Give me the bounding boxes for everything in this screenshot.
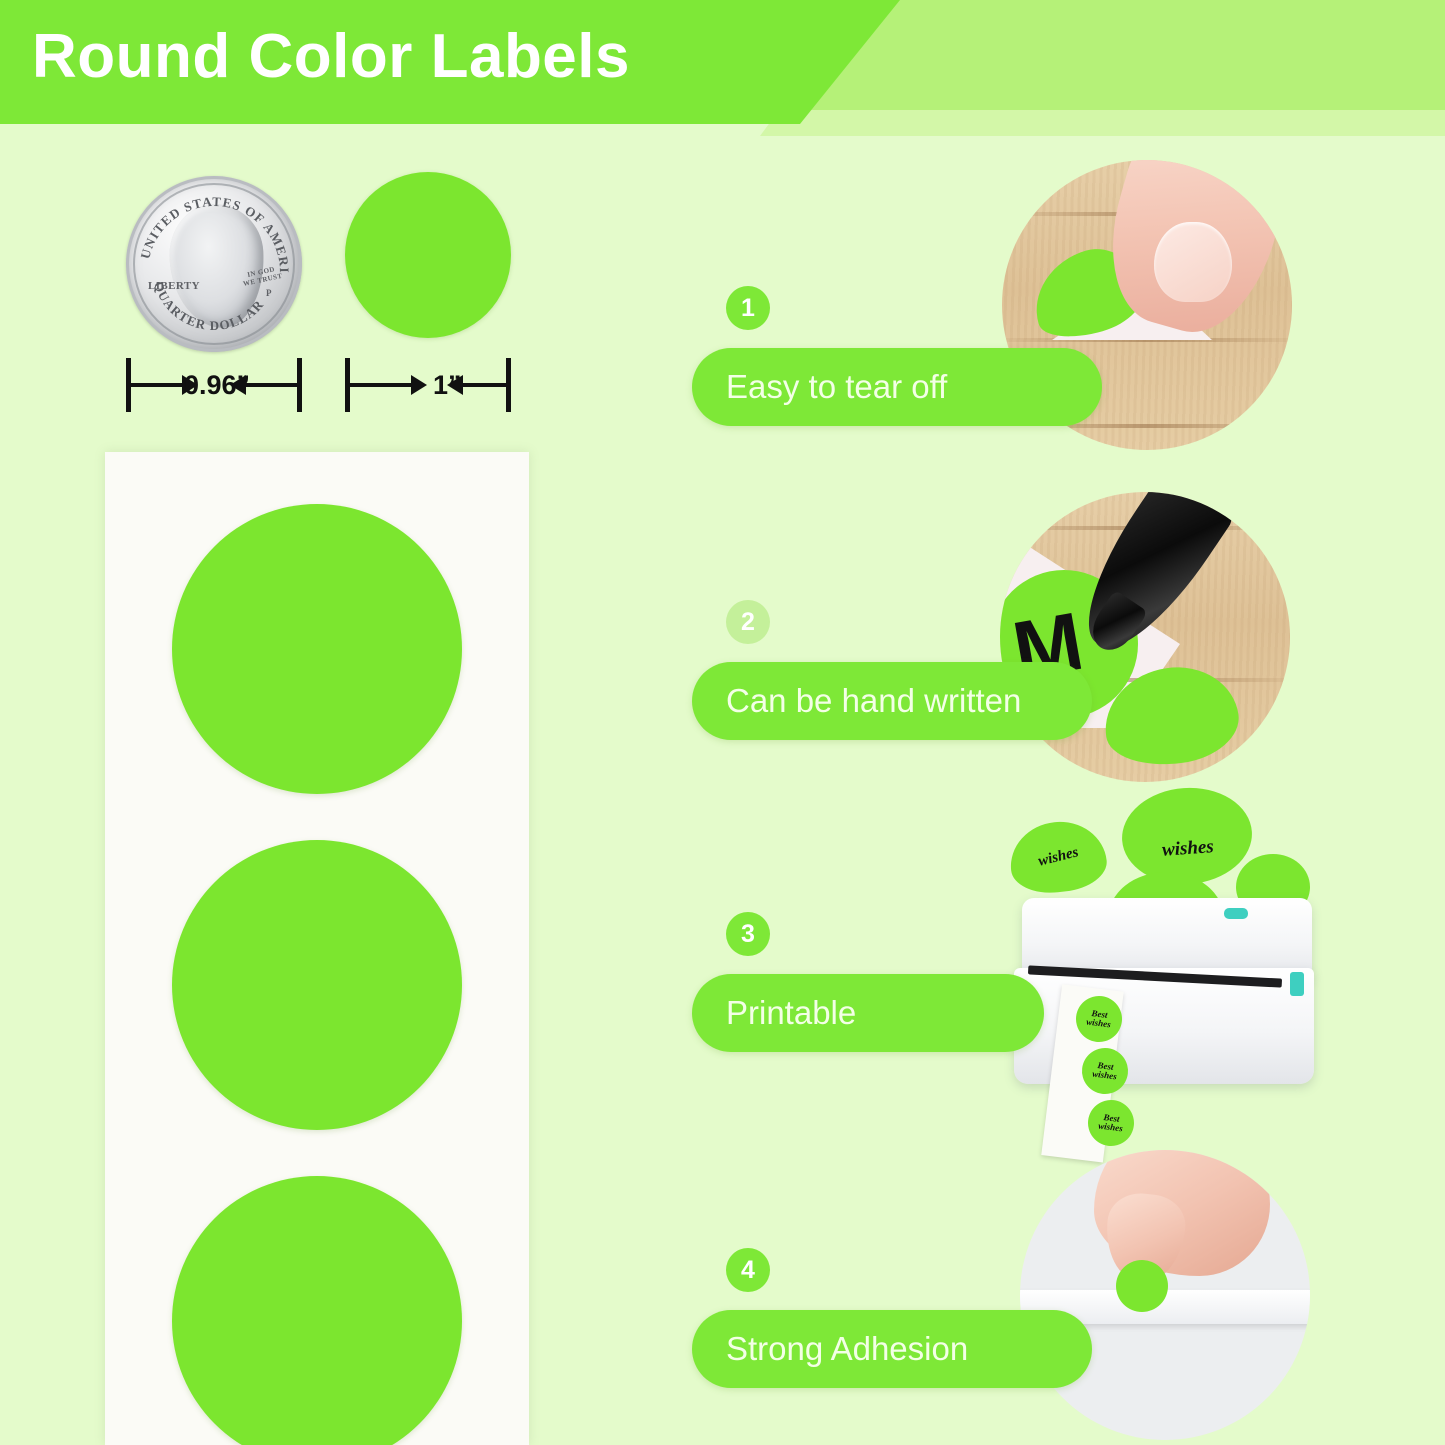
green-label-being-applied: [1116, 1260, 1168, 1312]
ruler-bar-right: [242, 383, 298, 387]
printer-side-button: [1290, 972, 1304, 996]
sheet-label-dot: [172, 840, 462, 1130]
feature-label: Can be hand written: [726, 682, 1021, 720]
sticker-text: Bestwishes: [1092, 1061, 1119, 1082]
feature-pill[interactable]: Easy to tear off: [692, 348, 1102, 426]
ruler-tick-right: [297, 358, 302, 412]
printer-status-led: [1224, 908, 1248, 919]
feature-label: Strong Adhesion: [726, 1330, 968, 1368]
ruler-bar-left: [130, 383, 186, 387]
feature-number-badge: 1: [726, 286, 770, 330]
quarter-coin: UNITED STATES OF AMERICA LIBERTY IN GODW…: [126, 176, 302, 352]
label-sheet: [105, 452, 529, 1445]
sheet-label-dot: [172, 1176, 462, 1445]
feature-label: Easy to tear off: [726, 368, 947, 406]
sticker-roll-label: wishes: [1007, 817, 1110, 897]
product-infographic: Round Color Labels UNITED STATES OF AMER…: [0, 0, 1445, 1445]
feature-number-badge: 2: [726, 600, 770, 644]
feature-label: Printable: [726, 994, 856, 1032]
sticker-text: Bestwishes: [1086, 1009, 1113, 1030]
coin-dimension-ruler: 0.96”: [126, 358, 302, 412]
ruler-bar-left: [349, 383, 415, 387]
ruler-tick-right: [506, 358, 511, 412]
feature-pill[interactable]: Strong Adhesion: [692, 1310, 1092, 1388]
sample-round-label: [345, 172, 511, 338]
ruler-arrow-right: [411, 375, 427, 395]
feature-number-badge: 4: [726, 1248, 770, 1292]
photo-strong-adhesion: [1020, 1150, 1310, 1440]
page-title: Round Color Labels: [32, 26, 630, 88]
sticker-roll-label: wishes: [1119, 784, 1255, 889]
feature-number-badge: 3: [726, 912, 770, 956]
ruler-arrow-left: [447, 375, 463, 395]
label-dimension-ruler: 1”: [345, 358, 511, 412]
feature-pill[interactable]: Can be hand written: [692, 662, 1092, 740]
sticker-text: Bestwishes: [1098, 1113, 1125, 1134]
photo-printable: wishes wishes Best Bestwishes Bestwishes…: [1000, 800, 1300, 1100]
ruler-bar-right: [459, 383, 507, 387]
coin-denomination-text: QUARTER DOLLAR: [126, 176, 302, 352]
svg-text:QUARTER DOLLAR: QUARTER DOLLAR: [151, 279, 267, 333]
sheet-label-dot: [172, 504, 462, 794]
ruler-arrow-left: [230, 375, 246, 395]
feature-pill[interactable]: Printable: [692, 974, 1044, 1052]
fingernail: [1154, 222, 1232, 302]
